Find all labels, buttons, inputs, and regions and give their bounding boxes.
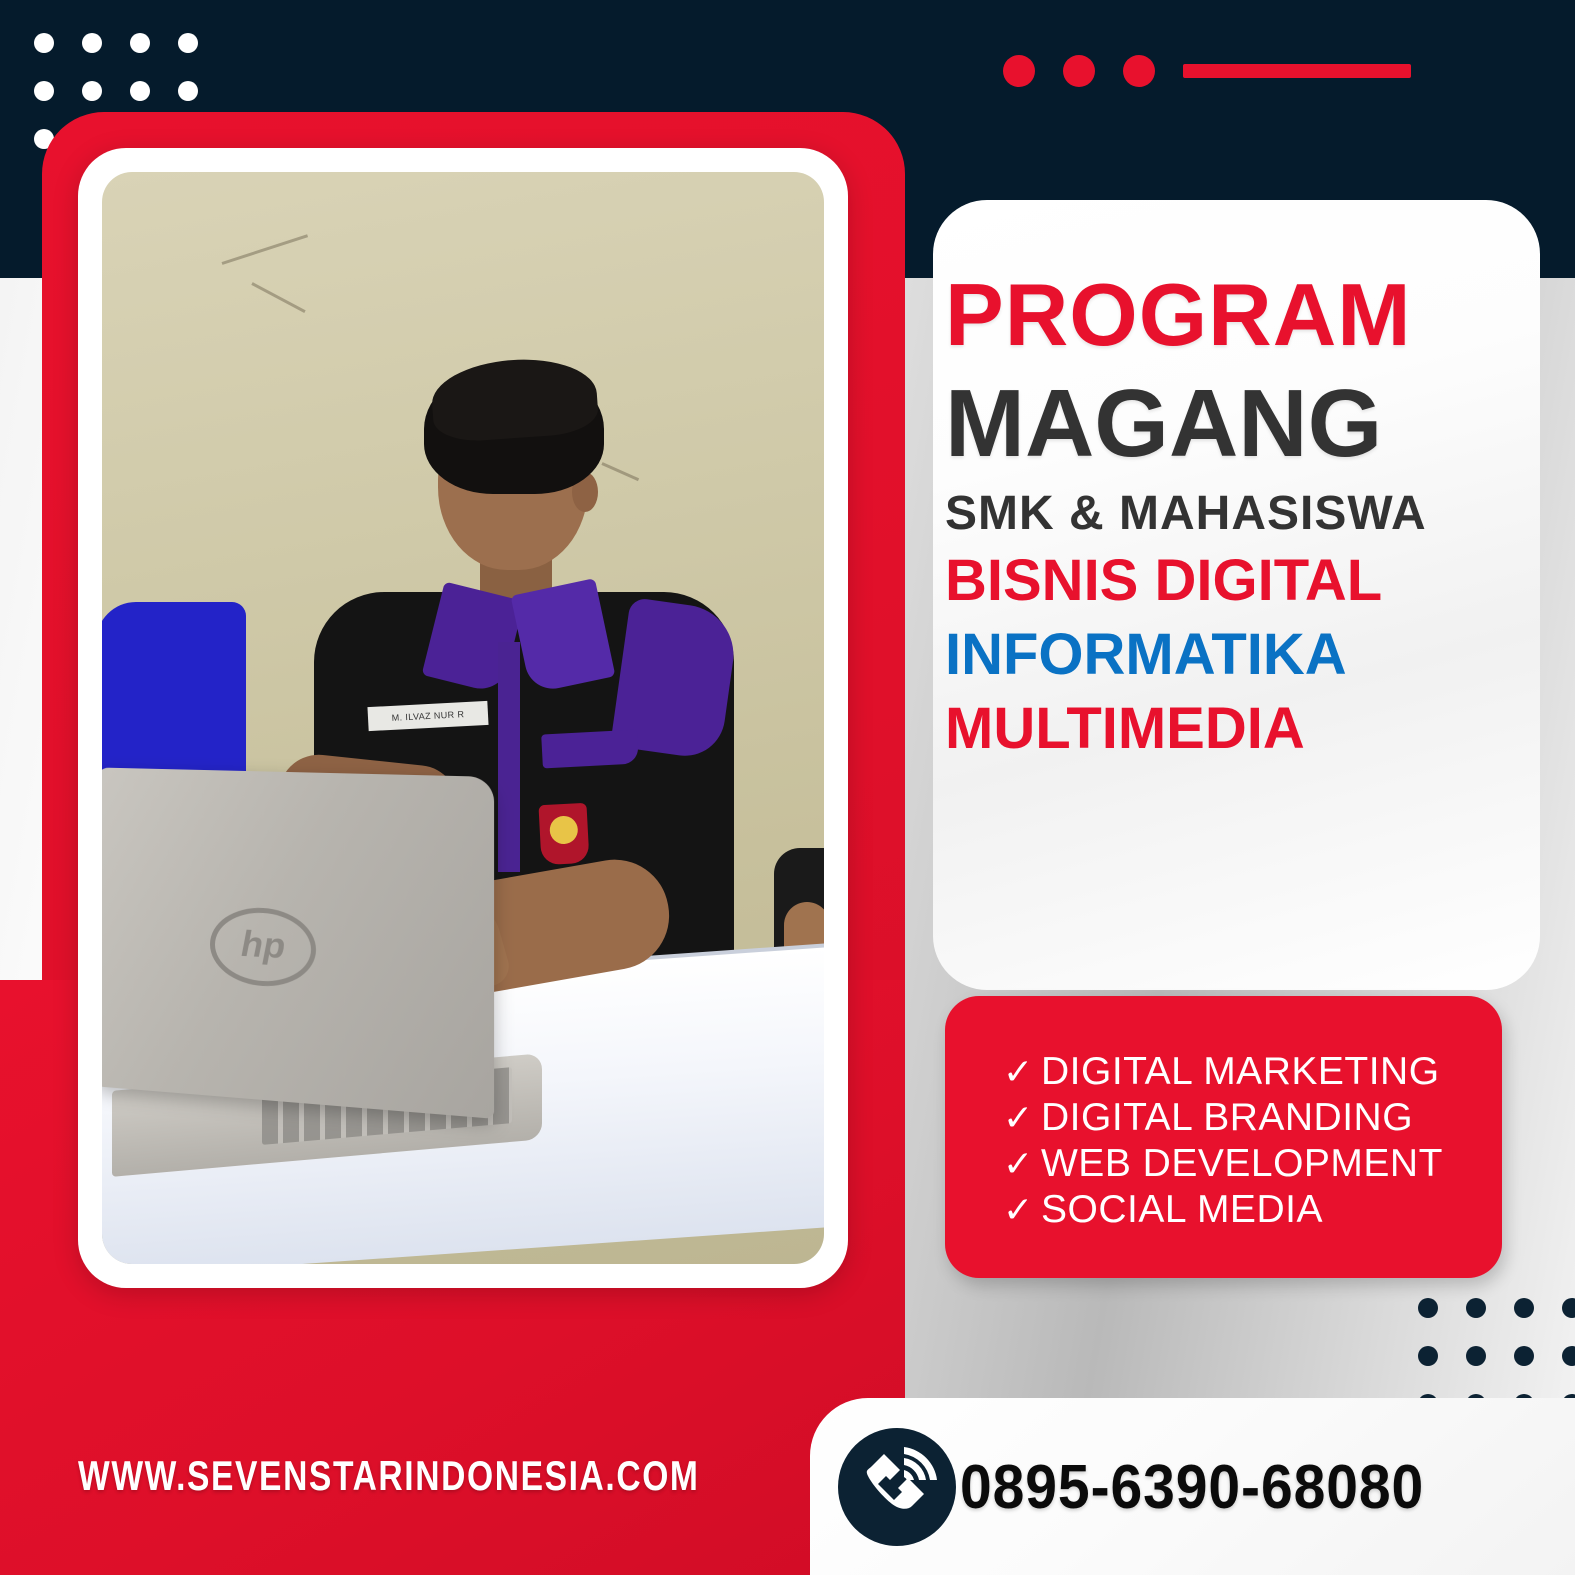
headline-block: PROGRAM MAGANG SMK & MAHASISWA BISNIS DI… [945, 272, 1545, 758]
list-item: ✓ DIGITAL MARKETING [1003, 1050, 1443, 1094]
check-icon: ✓ [1003, 1054, 1037, 1090]
top-right-red-bar-icon [1183, 64, 1411, 78]
phone-number[interactable]: 0895-6390-68080 [960, 1452, 1424, 1523]
headline-program: PROGRAM [945, 272, 1545, 358]
list-item: ✓ DIGITAL BRANDING [1003, 1096, 1443, 1140]
check-icon: ✓ [1003, 1146, 1037, 1182]
student-photo: M. ILVAZ NUR R hp [102, 172, 824, 1264]
service-label: DIGITAL BRANDING [1041, 1096, 1413, 1140]
website-url[interactable]: WWW.SEVENSTARINDONESIA.COM [78, 1452, 700, 1500]
blue-chair-back [102, 602, 246, 792]
headline-bisnis-digital: BISNIS DIGITAL [945, 552, 1545, 610]
services-list: ✓ DIGITAL MARKETING ✓ DIGITAL BRANDING ✓… [1003, 1050, 1443, 1234]
uniform-placket [498, 642, 520, 872]
ringing-phone-icon [838, 1428, 956, 1546]
photo-frame: M. ILVAZ NUR R hp [78, 148, 848, 1288]
uniform-pocket-flap [541, 730, 639, 769]
services-box: ✓ DIGITAL MARKETING ✓ DIGITAL BRANDING ✓… [945, 996, 1502, 1278]
student-hair-highlight [429, 354, 599, 443]
check-icon: ✓ [1003, 1192, 1037, 1228]
headline-audience: SMK & MAHASISWA [945, 490, 1545, 538]
service-label: DIGITAL MARKETING [1041, 1050, 1440, 1094]
service-label: SOCIAL MEDIA [1041, 1188, 1323, 1232]
uniform-school-badge [538, 803, 589, 865]
check-icon: ✓ [1003, 1100, 1037, 1136]
list-item: ✓ SOCIAL MEDIA [1003, 1188, 1443, 1232]
poster-root: M. ILVAZ NUR R hp PROGRAM MAGANG SMK & M… [0, 0, 1575, 1575]
headline-multimedia: MULTIMEDIA [945, 700, 1545, 758]
list-item: ✓ WEB DEVELOPMENT [1003, 1142, 1443, 1186]
headline-informatika: INFORMATIKA [945, 626, 1545, 684]
service-label: WEB DEVELOPMENT [1041, 1142, 1443, 1186]
top-right-dots-icon [1003, 55, 1155, 87]
bottom-right-dot-grid-icon [1418, 1298, 1575, 1414]
headline-magang: MAGANG [945, 376, 1545, 472]
